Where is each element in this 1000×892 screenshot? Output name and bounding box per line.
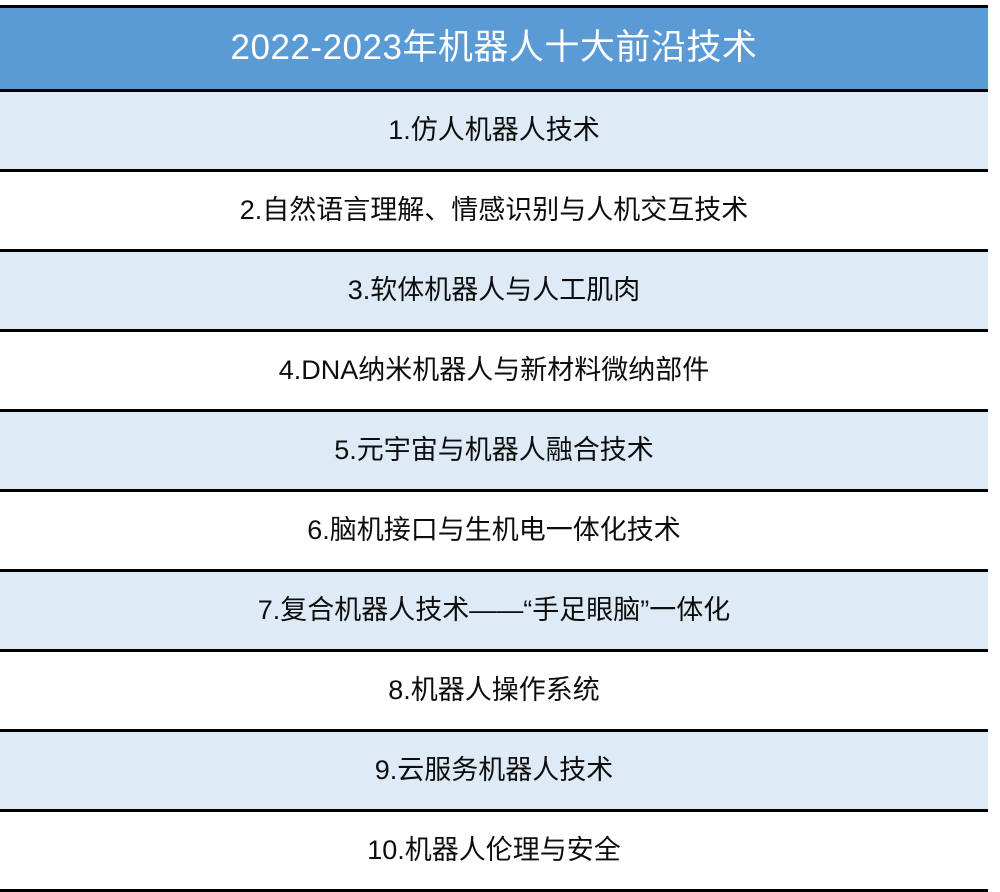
table-row: 6.脑机接口与生机电一体化技术 [0,491,988,571]
page-title: 2022-2023年机器人十大前沿技术 [0,30,988,67]
table-title-cell: 2022-2023年机器人十大前沿技术 [0,7,988,91]
table-header-row: 2022-2023年机器人十大前沿技术 [0,7,988,91]
table-cell-item-1: 1.仿人机器人技术 [0,91,988,171]
table-row: 5.元宇宙与机器人融合技术 [0,411,988,491]
table-row: 9.云服务机器人技术 [0,731,988,811]
list-item-label: 1.仿人机器人技术 [0,116,988,146]
list-item-label: 7.复合机器人技术——“手足眼脑”一体化 [0,596,988,626]
table-cell-item-10: 10.机器人伦理与安全 [0,811,988,891]
top-technologies-table: 2022-2023年机器人十大前沿技术 1.仿人机器人技术 2.自然语言理解、情… [0,5,988,892]
table-cell-item-7: 7.复合机器人技术——“手足眼脑”一体化 [0,571,988,651]
list-item-label: 8.机器人操作系统 [0,676,988,706]
table-row: 7.复合机器人技术——“手足眼脑”一体化 [0,571,988,651]
table-cell-item-3: 3.软体机器人与人工肌肉 [0,251,988,331]
list-item-label: 2.自然语言理解、情感识别与人机交互技术 [0,196,988,226]
table-cell-item-2: 2.自然语言理解、情感识别与人机交互技术 [0,171,988,251]
list-item-label: 10.机器人伦理与安全 [0,836,988,866]
table-cell-item-9: 9.云服务机器人技术 [0,731,988,811]
table-body: 2022-2023年机器人十大前沿技术 1.仿人机器人技术 2.自然语言理解、情… [0,7,988,891]
table-cell-item-5: 5.元宇宙与机器人融合技术 [0,411,988,491]
table-row: 3.软体机器人与人工肌肉 [0,251,988,331]
table-row: 1.仿人机器人技术 [0,91,988,171]
page-root: 2022-2023年机器人十大前沿技术 1.仿人机器人技术 2.自然语言理解、情… [0,0,1000,860]
table-cell-item-4: 4.DNA纳米机器人与新材料微纳部件 [0,331,988,411]
table-cell-item-6: 6.脑机接口与生机电一体化技术 [0,491,988,571]
list-item-label: 3.软体机器人与人工肌肉 [0,276,988,306]
table-row: 4.DNA纳米机器人与新材料微纳部件 [0,331,988,411]
table-row: 8.机器人操作系统 [0,651,988,731]
list-item-label: 6.脑机接口与生机电一体化技术 [0,516,988,546]
list-item-label: 5.元宇宙与机器人融合技术 [0,436,988,466]
table-cell-item-8: 8.机器人操作系统 [0,651,988,731]
table-row: 2.自然语言理解、情感识别与人机交互技术 [0,171,988,251]
list-item-label: 9.云服务机器人技术 [0,756,988,786]
table-row: 10.机器人伦理与安全 [0,811,988,891]
list-item-label: 4.DNA纳米机器人与新材料微纳部件 [0,356,988,386]
